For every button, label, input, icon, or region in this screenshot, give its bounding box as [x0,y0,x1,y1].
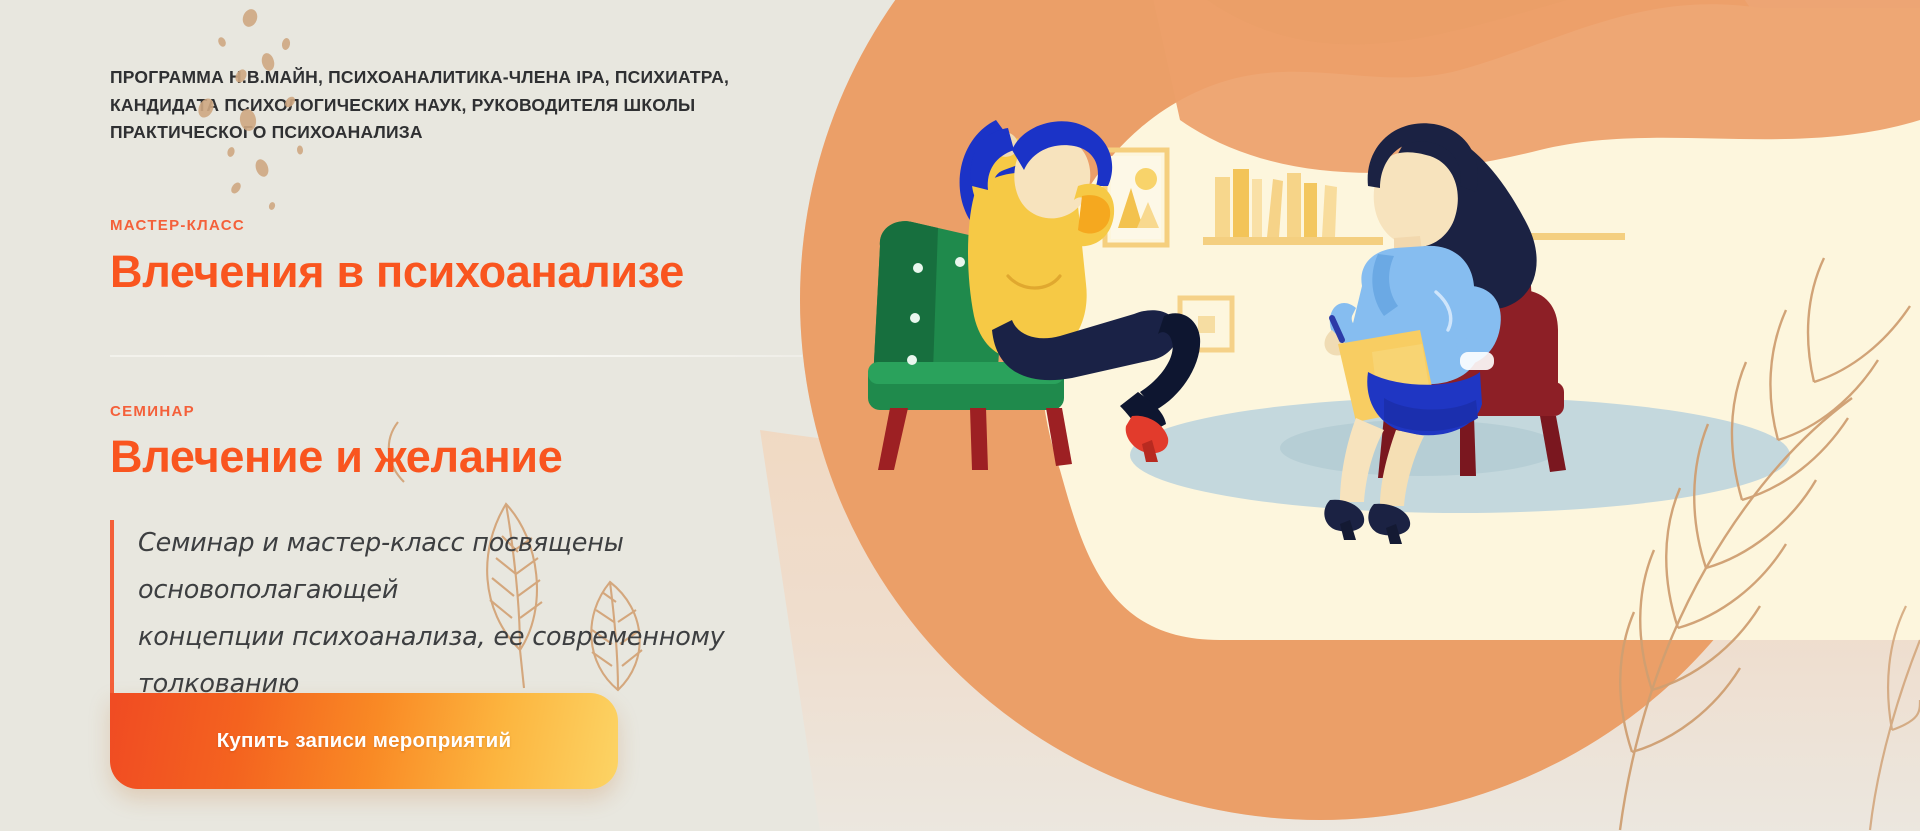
cuff [1460,352,1494,370]
program-description: ПРОГРАММА Н.В.МАЙН, ПСИХОАНАЛИТИКА-ЧЛЕНА… [110,64,810,147]
program-line-1: ПРОГРАММА Н.В.МАЙН, ПСИХОАНАЛИТИКА-ЧЛЕНА… [110,64,810,92]
seminar-title: Влечение и желание [110,433,563,480]
masterclass-title: Влечения в психоанализе [110,248,684,295]
program-line-2: КАНДИДАТА ПСИХОЛОГИЧЕСКИХ НАУК, РУКОВОДИ… [110,92,810,120]
hero-copy-column: ПРОГРАММА Н.В.МАЙН, ПСИХОАНАЛИТИКА-ЧЛЕНА… [110,0,850,831]
buy-recordings-button[interactable]: Купить записи мероприятий [110,693,618,789]
program-line-3: ПРАКТИЧЕСКОГО ПСИХОАНАЛИЗА [110,119,810,147]
chair-leg [970,408,988,470]
masterclass-block: МАСТЕР-КЛАСС Влечения в психоанализе [110,217,684,295]
framed-picture [1105,150,1167,245]
hero-banner: ПРОГРАММА Н.В.МАЙН, ПСИХОАНАЛИТИКА-ЧЛЕНА… [0,0,1920,831]
section-divider [110,355,802,357]
buy-recordings-label: Купить записи мероприятий [217,729,512,753]
masterclass-label: МАСТЕР-КЛАСС [110,217,684,234]
therapy-session-illustration [760,0,1920,831]
seminar-label: СЕМИНАР [110,403,563,420]
seminar-block: СЕМИНАР Влечение и желание [110,403,563,480]
description-line-1: Семинар и мастер-класс посвящены основоп… [138,520,810,614]
